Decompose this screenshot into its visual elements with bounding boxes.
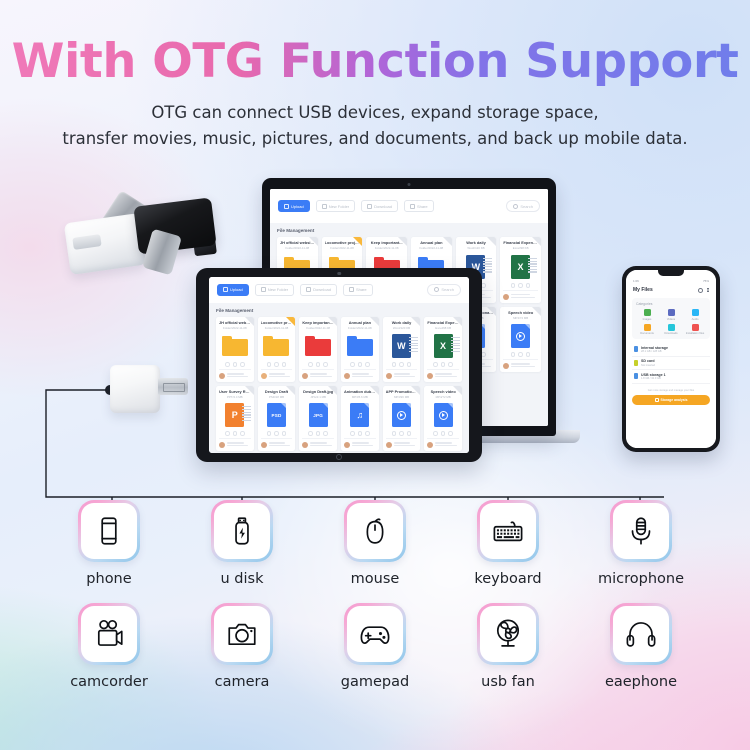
- file-card[interactable]: Keep important...Folder/2022-11-08: [299, 317, 337, 382]
- file-card[interactable]: APP Promotional VideoMP4/96 MB: [383, 386, 421, 451]
- card-corner: [443, 237, 452, 246]
- file-card-subtitle: MP4/72 MB: [427, 396, 459, 399]
- phone-status-bar: 1:06 75%: [632, 279, 710, 286]
- file-card-footer: [427, 438, 459, 448]
- card-corner: [328, 317, 337, 326]
- excel-file-icon: X: [511, 255, 530, 279]
- file-card-meta: [227, 442, 251, 448]
- file-card-thumbnail: [392, 402, 411, 428]
- card-corner: [286, 317, 295, 326]
- section-title-tablet: File Management: [216, 308, 462, 313]
- storage-name: USB storage 1: [641, 373, 666, 377]
- file-card-thumbnail: [434, 402, 453, 428]
- categories-header: Categories: [636, 302, 706, 306]
- upload-button-label: Upload: [291, 204, 304, 209]
- file-card-subtitle: Folder/2022-11-08: [219, 327, 251, 330]
- peripheral-item-eaephone[interactable]: eaephone: [575, 603, 708, 690]
- tablet-device: Upload New Folder Download Share: [196, 268, 482, 462]
- search-icon: [434, 287, 439, 292]
- phone-notch: [658, 270, 684, 276]
- file-card-subtitle: PPT/2.4 MB: [219, 396, 251, 399]
- usb-flash-drive-icon: [214, 503, 270, 559]
- gamepad-icon: [347, 606, 403, 662]
- status-time: 1:06: [633, 279, 639, 283]
- card-corner: [370, 317, 379, 326]
- file-card-subtitle: Folder/2022-11-08: [280, 247, 315, 250]
- card-corner: [286, 386, 295, 395]
- storage-name: Internal storage: [641, 346, 668, 350]
- peripheral-label: camcorder: [70, 674, 148, 690]
- new-folder-button[interactable]: New Folder: [316, 200, 355, 212]
- category-label: Documents: [640, 332, 654, 335]
- download-button-tablet[interactable]: Download: [300, 284, 337, 296]
- categories-panel: Categories ImagesVideosAudioDocumentsDow…: [632, 298, 710, 339]
- file-manager-app-tablet: Upload New Folder Download Share: [209, 277, 469, 453]
- file-card-actions[interactable]: [511, 352, 531, 357]
- file-card-footer: [219, 369, 251, 379]
- category-icon: [692, 309, 699, 316]
- file-card-subtitle: Folder/2022-11-08: [325, 247, 360, 250]
- file-card-subtitle: MP3/5.6 MB: [344, 396, 376, 399]
- peripheral-label: gamepad: [341, 674, 409, 690]
- micro-usb-plug: [158, 378, 188, 395]
- keyboard-icon: [480, 503, 536, 559]
- folder-icon: [263, 336, 289, 356]
- fan-icon: [480, 606, 536, 662]
- file-card-thumbnail: X: [434, 333, 453, 359]
- status-battery: 75%: [703, 279, 709, 283]
- storage-icon: [634, 346, 638, 352]
- file-card-meta: [435, 442, 459, 448]
- search-placeholder: Search: [520, 204, 533, 209]
- storage-icon: [634, 373, 638, 379]
- file-card-subtitle: Excel/98 KB: [427, 327, 459, 330]
- file-card-subtitle: Folder/2022-11-08: [261, 327, 293, 330]
- file-card-thumbnail: [222, 333, 248, 359]
- file-card-meta: [269, 442, 293, 448]
- file-card-thumbnail: X: [511, 254, 530, 280]
- avatar: [219, 373, 225, 379]
- phone-icon: [81, 503, 137, 559]
- file-card-thumbnail: [305, 333, 331, 359]
- storage-meta: 28.1 GB / 128 GB: [641, 350, 668, 353]
- file-card-actions[interactable]: [392, 431, 412, 436]
- file-card-actions[interactable]: [267, 362, 287, 367]
- avatar: [219, 442, 225, 448]
- storage-analysis-button[interactable]: Storage analysis: [632, 395, 710, 405]
- category-icon: [692, 324, 699, 331]
- phone-app-header: My Files: [632, 286, 710, 298]
- peripheral-item-usb-fan[interactable]: usb fan: [442, 603, 575, 690]
- peripheral-label: mouse: [351, 571, 400, 587]
- file-card-meta: [310, 442, 334, 448]
- storage-meta: 1.8 GB / 32.0 GB: [641, 377, 666, 380]
- file-card-meta: [269, 373, 293, 379]
- file-card-actions[interactable]: [267, 431, 287, 436]
- upload-button[interactable]: Upload: [278, 200, 310, 212]
- category-item[interactable]: Installation files: [684, 324, 706, 336]
- category-icon: [644, 324, 651, 331]
- category-label: Downloads: [664, 332, 677, 335]
- card-corner: [245, 317, 254, 326]
- peripheral-item-keyboard[interactable]: keyboard: [442, 500, 575, 587]
- file-card[interactable]: Financial Expenditure...Excel/98 KBX: [424, 317, 462, 382]
- categories-grid: ImagesVideosAudioDocumentsDownloadsInsta…: [636, 309, 706, 335]
- file-card[interactable]: Design DraftPSD/18 MBPSD: [258, 386, 296, 451]
- file-card-actions[interactable]: [225, 431, 245, 436]
- peripheral-item-camera[interactable]: camera: [176, 603, 309, 690]
- folder-plus-icon: [322, 204, 327, 209]
- avatar: [503, 363, 509, 369]
- search-icon[interactable]: [698, 288, 703, 293]
- avatar: [386, 442, 392, 448]
- file-card[interactable]: Locomotive projectFolder/2022-11-08: [258, 317, 296, 382]
- file-card-actions[interactable]: [392, 362, 412, 367]
- card-corner: [411, 386, 420, 395]
- file-grid-row-1-tablet: JH official website...Folder/2022-11-08L…: [216, 317, 462, 382]
- file-card-meta: [352, 373, 376, 379]
- card-corner: [398, 237, 407, 246]
- peripheral-tile[interactable]: [344, 603, 406, 665]
- search-input-tablet[interactable]: Search: [427, 284, 461, 296]
- file-card-actions[interactable]: [308, 362, 328, 367]
- doc-lines: [528, 258, 537, 274]
- upload-icon: [223, 287, 228, 292]
- avatar: [427, 373, 433, 379]
- file-card[interactable]: Design Draft.jpgJPG/3.1 MBJPG: [299, 386, 337, 451]
- card-corner: [532, 237, 541, 246]
- search-icon: [513, 204, 518, 209]
- new-folder-button-tablet[interactable]: New Folder: [255, 284, 294, 296]
- file-card-footer: [503, 359, 538, 369]
- video-file-icon: [392, 403, 411, 427]
- connected-otg-adapter: [110, 362, 196, 418]
- file-card-subtitle: MP4/96 MB: [386, 396, 418, 399]
- file-card-footer: [219, 438, 251, 448]
- file-card-subtitle: Folder/2022-11-08: [302, 327, 334, 330]
- file-card[interactable]: Financial Expenditure...Excel/98 KBX: [500, 237, 541, 302]
- app-title: My Files: [633, 287, 653, 293]
- category-label: Installation files: [686, 332, 704, 335]
- avatar: [386, 373, 392, 379]
- file-card-footer: [302, 438, 334, 448]
- file-card-actions[interactable]: [225, 362, 245, 367]
- card-corner: [370, 386, 379, 395]
- peripheral-item-microphone[interactable]: microphone: [575, 500, 708, 587]
- card-corner: [453, 386, 462, 395]
- category-item[interactable]: Downloads: [660, 324, 682, 336]
- file-manager-toolbar: Upload New Folder Download Share: [270, 189, 548, 223]
- phone-device: 1:06 75% My Files Categories ImagesVideo…: [622, 266, 720, 452]
- file-card-thumbnail: W: [392, 333, 411, 359]
- download-icon: [306, 287, 311, 292]
- storage-icon: [634, 360, 638, 366]
- avatar: [302, 442, 308, 448]
- folder-icon: [222, 336, 248, 356]
- word-file-icon: W: [392, 334, 411, 358]
- storage-meta: Not inserted: [641, 364, 655, 367]
- card-corner: [487, 237, 496, 246]
- video-file-icon: [434, 403, 453, 427]
- category-label: Videos: [667, 318, 675, 321]
- doc-lines: [451, 337, 460, 353]
- peripheral-item-mouse[interactable]: mouse: [309, 500, 442, 587]
- file-card-meta: [511, 294, 538, 300]
- laptop-webcam-icon: [408, 183, 411, 186]
- phone-header-actions: [698, 288, 709, 293]
- category-label: Audio: [692, 318, 699, 321]
- peripheral-tile[interactable]: [211, 603, 273, 665]
- file-card-footer: [302, 369, 334, 379]
- camcorder-icon: [81, 606, 137, 662]
- peripheral-item-camcorder[interactable]: camcorder: [43, 603, 176, 690]
- avatar: [261, 373, 267, 379]
- share-button[interactable]: Share: [404, 200, 434, 212]
- file-card-subtitle: Folder/2022-11-08: [344, 327, 376, 330]
- avatar: [427, 442, 433, 448]
- search-input[interactable]: Search: [506, 200, 540, 212]
- peripheral-label: usb fan: [481, 674, 535, 690]
- storage-analysis-label: Storage analysis: [661, 398, 688, 402]
- phone-body: 1:06 75% My Files Categories ImagesVideo…: [622, 266, 720, 452]
- avatar: [261, 442, 267, 448]
- file-card-footer: [386, 369, 418, 379]
- share-button-tablet[interactable]: Share: [343, 284, 373, 296]
- peripheral-tile[interactable]: [211, 500, 273, 562]
- new-folder-button-label: New Folder: [329, 204, 349, 209]
- file-card[interactable]: Annual planFolder/2022-11-08: [341, 317, 379, 382]
- storage-item[interactable]: Internal storage28.1 GB / 128 GB: [632, 343, 710, 357]
- file-card-footer: [386, 438, 418, 448]
- doc-lines: [483, 258, 492, 274]
- tablet-camera-icon: [337, 272, 341, 276]
- file-card-thumbnail: PSD: [267, 402, 286, 428]
- file-card-subtitle: Folder/2022-11-08: [369, 247, 404, 250]
- analysis-icon: [655, 398, 659, 402]
- tablet-screen: Upload New Folder Download Share: [209, 277, 469, 453]
- card-corner: [309, 237, 318, 246]
- file-manager-toolbar-tablet: Upload New Folder Download Share: [209, 277, 469, 303]
- file-card[interactable]: JH official website...Folder/2022-11-08: [216, 317, 254, 382]
- adapter-body: [110, 365, 160, 413]
- storage-note: Get more storage and manage your files: [632, 389, 710, 392]
- upload-button-label: Upload: [230, 287, 243, 292]
- file-card-subtitle: Word/120 KB: [386, 327, 418, 330]
- search-placeholder: Search: [441, 287, 454, 292]
- upload-button-tablet[interactable]: Upload: [217, 284, 249, 296]
- file-card-meta: [435, 373, 459, 379]
- ppt-file-icon: P: [225, 403, 244, 427]
- file-card-thumbnail: [263, 333, 289, 359]
- file-card-actions[interactable]: [433, 431, 453, 436]
- file-card-meta: [394, 442, 418, 448]
- file-card-footer: [344, 369, 376, 379]
- folder-plus-icon: [261, 287, 266, 292]
- share-icon: [349, 287, 354, 292]
- file-card-thumbnail: JPG: [309, 402, 328, 428]
- card-corner: [245, 386, 254, 395]
- excel-file-icon: X: [434, 334, 453, 358]
- peripheral-item-phone[interactable]: phone: [43, 500, 176, 587]
- category-item[interactable]: Audio: [684, 309, 706, 321]
- headphones-icon: [613, 606, 669, 662]
- file-card-thumbnail: [347, 333, 373, 359]
- file-card-thumbnail: P: [225, 402, 244, 428]
- file-card-footer: [503, 290, 538, 300]
- file-manager-body-tablet: File Management JH official website...Fo…: [209, 303, 469, 451]
- phone-screen: 1:06 75% My Files Categories ImagesVideo…: [626, 270, 716, 448]
- category-icon: [668, 309, 675, 316]
- tablet-home-button[interactable]: [336, 454, 342, 460]
- file-grid-row-2-tablet: User Survey ReportPPT/2.4 MBPDesign Draf…: [216, 386, 462, 451]
- file-card-actions[interactable]: [350, 362, 370, 367]
- peripheral-tile[interactable]: [477, 603, 539, 665]
- section-title: File Management: [277, 228, 541, 233]
- peripheral-label: camera: [215, 674, 270, 690]
- storage-list: Internal storage28.1 GB / 128 GBSD cardN…: [632, 343, 710, 384]
- storage-text: SD cardNot inserted: [641, 359, 655, 367]
- peripheral-tile[interactable]: [78, 500, 140, 562]
- share-button-label: Share: [417, 204, 428, 209]
- file-card-actions[interactable]: [511, 283, 531, 288]
- new-folder-button-label: New Folder: [268, 287, 288, 292]
- file-card-footer: [261, 369, 293, 379]
- doc-lines: [242, 406, 251, 422]
- avatar: [344, 442, 350, 448]
- download-button-label: Download: [313, 287, 331, 292]
- peripheral-item-gamepad[interactable]: gamepad: [309, 603, 442, 690]
- storage-text: USB storage 11.8 GB / 32.0 GB: [641, 373, 666, 381]
- download-button[interactable]: Download: [361, 200, 398, 212]
- file-card[interactable]: Speech videoMP4/72 MB: [500, 307, 541, 372]
- file-card[interactable]: Speech videoMP4/72 MB: [424, 386, 462, 451]
- file-card[interactable]: Work dailyWord/120 KBW: [383, 317, 421, 382]
- doc-lines: [409, 337, 418, 353]
- card-corner: [453, 317, 462, 326]
- file-card-footer: [427, 369, 459, 379]
- peripheral-label: eaephone: [605, 674, 677, 690]
- peripheral-icon-grid: phoneu diskmousekeyboardmicrophone camco…: [0, 500, 750, 690]
- file-card-subtitle: Folder/2022-11-08: [414, 247, 449, 250]
- download-button-label: Download: [374, 204, 392, 209]
- peripheral-label: phone: [86, 571, 131, 587]
- file-card-meta: [511, 363, 538, 369]
- category-icon: [668, 324, 675, 331]
- file-card-meta: [227, 373, 251, 379]
- file-card-subtitle: PSD/18 MB: [261, 396, 293, 399]
- tablet-body: Upload New Folder Download Share: [196, 268, 482, 462]
- file-card-footer: [344, 438, 376, 448]
- card-corner: [532, 307, 541, 316]
- peripheral-tile[interactable]: [344, 500, 406, 562]
- share-button-label: Share: [356, 287, 367, 292]
- mouse-icon: [347, 503, 403, 559]
- peripheral-label: microphone: [598, 571, 684, 587]
- music-file-icon: ♫: [350, 403, 369, 427]
- peripheral-item-u-disk[interactable]: u disk: [176, 500, 309, 587]
- peripheral-label: u disk: [221, 571, 264, 587]
- storage-text: Internal storage28.1 GB / 128 GB: [641, 346, 668, 354]
- storage-item[interactable]: USB storage 11.8 GB / 32.0 GB: [632, 370, 710, 384]
- card-corner: [353, 237, 362, 246]
- peripheral-tile[interactable]: [610, 603, 672, 665]
- camera-icon: [214, 606, 270, 662]
- peripheral-tile[interactable]: [78, 603, 140, 665]
- file-card[interactable]: Animation dubbingMP3/5.6 MB♫: [341, 386, 379, 451]
- peripheral-tile[interactable]: [610, 500, 672, 562]
- file-card-actions[interactable]: [433, 362, 453, 367]
- avatar: [344, 373, 350, 379]
- file-card-meta: [352, 442, 376, 448]
- folder-icon: [305, 336, 331, 356]
- category-item[interactable]: Documents: [636, 324, 658, 336]
- card-corner: [328, 386, 337, 395]
- psd-file-icon: PSD: [267, 403, 286, 427]
- file-card-actions[interactable]: [350, 431, 370, 436]
- storage-item[interactable]: SD cardNot inserted: [632, 357, 710, 371]
- peripheral-label: keyboard: [474, 571, 541, 587]
- file-card[interactable]: User Survey ReportPPT/2.4 MBP: [216, 386, 254, 451]
- peripheral-tile[interactable]: [477, 500, 539, 562]
- avatar: [302, 373, 308, 379]
- share-icon: [410, 204, 415, 209]
- download-icon: [367, 204, 372, 209]
- card-corner: [411, 317, 420, 326]
- jpg-file-icon: JPG: [309, 403, 328, 427]
- file-card-meta: [394, 373, 418, 379]
- category-label: Images: [643, 318, 652, 321]
- file-card-subtitle: MP4/72 MB: [503, 317, 538, 320]
- file-card-subtitle: Word/120 KB: [459, 247, 494, 250]
- card-corner: [487, 307, 496, 316]
- file-card-subtitle: JPG/3.1 MB: [302, 396, 334, 399]
- avatar: [503, 294, 509, 300]
- microphone-icon: [613, 503, 669, 559]
- my-files-app: 1:06 75% My Files Categories ImagesVideo…: [626, 270, 716, 448]
- peripheral-row-1: phoneu diskmousekeyboardmicrophone: [0, 500, 750, 587]
- category-icon: [644, 309, 651, 316]
- folder-icon: [347, 336, 373, 356]
- file-card-footer: [261, 438, 293, 448]
- file-card-thumbnail: ♫: [350, 402, 369, 428]
- file-card-actions[interactable]: [308, 431, 328, 436]
- file-card-thumbnail: [511, 323, 530, 349]
- file-card-meta: [310, 373, 334, 379]
- peripheral-row-2: camcordercameragamepadusb faneaephone: [0, 603, 750, 690]
- category-item[interactable]: Images: [636, 309, 658, 321]
- upload-icon: [284, 204, 289, 209]
- more-options-icon[interactable]: [707, 288, 709, 293]
- category-item[interactable]: Videos: [660, 309, 682, 321]
- video-file-icon: [511, 324, 530, 348]
- file-card-subtitle: Excel/98 KB: [503, 247, 538, 250]
- storage-name: SD card: [641, 359, 655, 363]
